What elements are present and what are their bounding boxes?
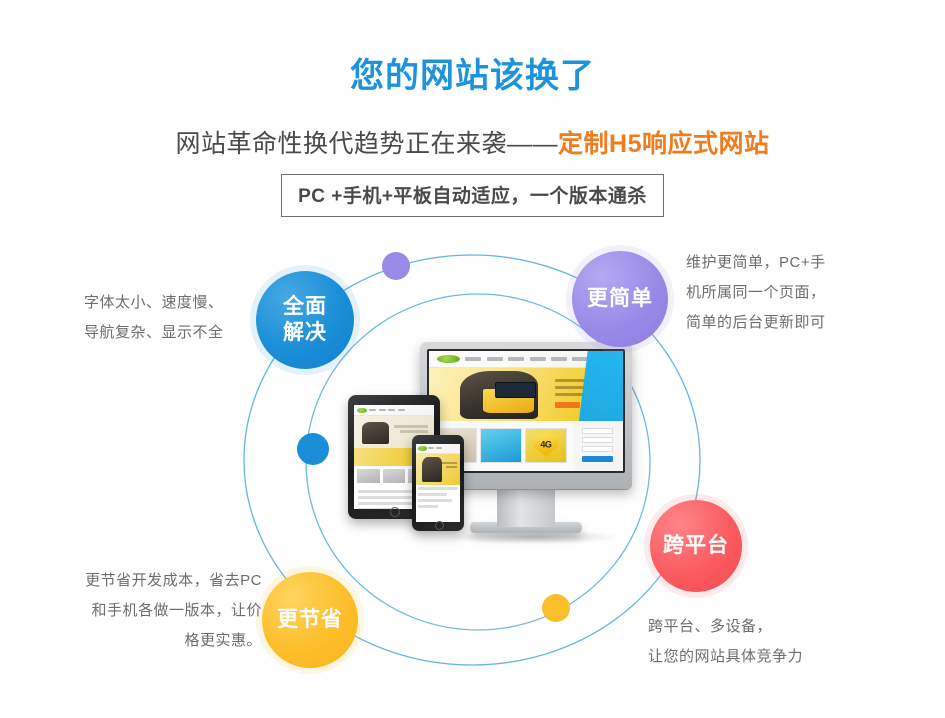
site-card-4g[interactable]: 4G [525, 428, 567, 463]
infographic-canvas: 您的网站该换了 网站革命性换代趋势正在来袭——定制H5响应式网站 PC +手机+… [0, 0, 945, 718]
page-title: 您的网站该换了 [0, 58, 945, 95]
caption-bottom-right-line2: 让您的网站具体竞争力 [648, 642, 803, 672]
tagline-wrapper: PC +手机+平板自动适应，一个版本通杀 [0, 174, 945, 217]
site-form-submit[interactable] [582, 456, 613, 462]
node-save-line1: 更节省 [277, 607, 343, 633]
tablet-home-button[interactable] [390, 507, 400, 517]
caption-bottom-left-line2: 和手机各做一版本，让价 [62, 596, 262, 626]
site-logo-icon [418, 446, 427, 450]
site-nav-link [388, 409, 395, 411]
site-nav-link [572, 357, 588, 360]
node-solve-line1: 全面 [283, 294, 327, 320]
site-nav-link [428, 447, 434, 449]
site-navbar [354, 405, 434, 416]
caption-top-left-line1: 字体太小、速度慢、 [84, 288, 224, 318]
node-simple[interactable]: 更简单 [572, 251, 668, 347]
site-nav-link [530, 357, 546, 360]
site-navbar [416, 444, 460, 454]
caption-top-right-line2: 机所属同一个页面， [686, 278, 826, 308]
subtitle: 网站革命性换代趋势正在来袭——定制H5响应式网站 [0, 124, 945, 160]
node-simple-line1: 更简单 [587, 286, 653, 312]
phone-screen [416, 444, 460, 522]
tagline-box: PC +手机+平板自动适应，一个版本通杀 [281, 174, 664, 217]
node-solve[interactable]: 全面 解决 [256, 271, 354, 369]
site-nav-link [487, 357, 503, 360]
caption-top-right-line1: 维护更简单，PC+手 [686, 248, 826, 278]
site-nav-link [379, 409, 386, 411]
caption-bottom-left-line1: 更节省开发成本，省去PC [62, 566, 262, 596]
caption-bottom-right-line1: 跨平台、多设备， [648, 612, 803, 642]
caption-bottom-left: 更节省开发成本，省去PC 和手机各做一版本，让价 格更实惠。 [62, 566, 262, 656]
phone-home-button[interactable] [435, 521, 444, 530]
caption-top-right: 维护更简单，PC+手 机所属同一个页面， 简单的后台更新即可 [686, 248, 826, 338]
hero-tablet-prop [495, 382, 536, 398]
site-logo-icon [357, 408, 367, 413]
site-signup-form [573, 421, 623, 471]
subtitle-plain-part: 网站革命性换代趋势正在来袭—— [176, 130, 559, 158]
phone-text-rows [416, 485, 460, 513]
site-card[interactable] [480, 428, 522, 463]
site-nav-link [398, 409, 405, 411]
caption-top-right-line3: 简单的后台更新即可 [686, 308, 826, 338]
node-solve-line2: 解决 [283, 320, 327, 346]
site-logo-icon [437, 355, 460, 363]
node-cross-platform[interactable]: 跨平台 [650, 500, 742, 592]
orbit-dot-yellow [542, 594, 570, 622]
node-cross-platform-line1: 跨平台 [663, 533, 729, 559]
phone-device [412, 435, 464, 531]
monitor-stand [497, 489, 555, 527]
node-save[interactable]: 更节省 [262, 572, 358, 668]
caption-top-left: 字体太小、速度慢、 导航复杂、显示不全 [84, 288, 224, 348]
site-nav-link [436, 447, 442, 449]
site-nav-link [551, 357, 567, 360]
phone-hero [416, 454, 460, 485]
orbit-dot-purple [382, 252, 410, 280]
device-mockup-cluster: 4G [330, 330, 630, 585]
caption-bottom-left-line3: 格更实惠。 [62, 626, 262, 656]
caption-top-left-line2: 导航复杂、显示不全 [84, 318, 224, 348]
badge-4g: 4G [534, 433, 559, 456]
site-nav-link [465, 357, 481, 360]
caption-bottom-right: 跨平台、多设备， 让您的网站具体竞争力 [648, 612, 803, 672]
hero-cta-button[interactable] [555, 402, 579, 408]
subtitle-accent-part: 定制H5响应式网站 [558, 130, 769, 158]
site-nav-link [508, 357, 524, 360]
site-nav-link [369, 409, 376, 411]
orbit-dot-blue [297, 433, 329, 465]
website-preview-phone [416, 444, 460, 522]
